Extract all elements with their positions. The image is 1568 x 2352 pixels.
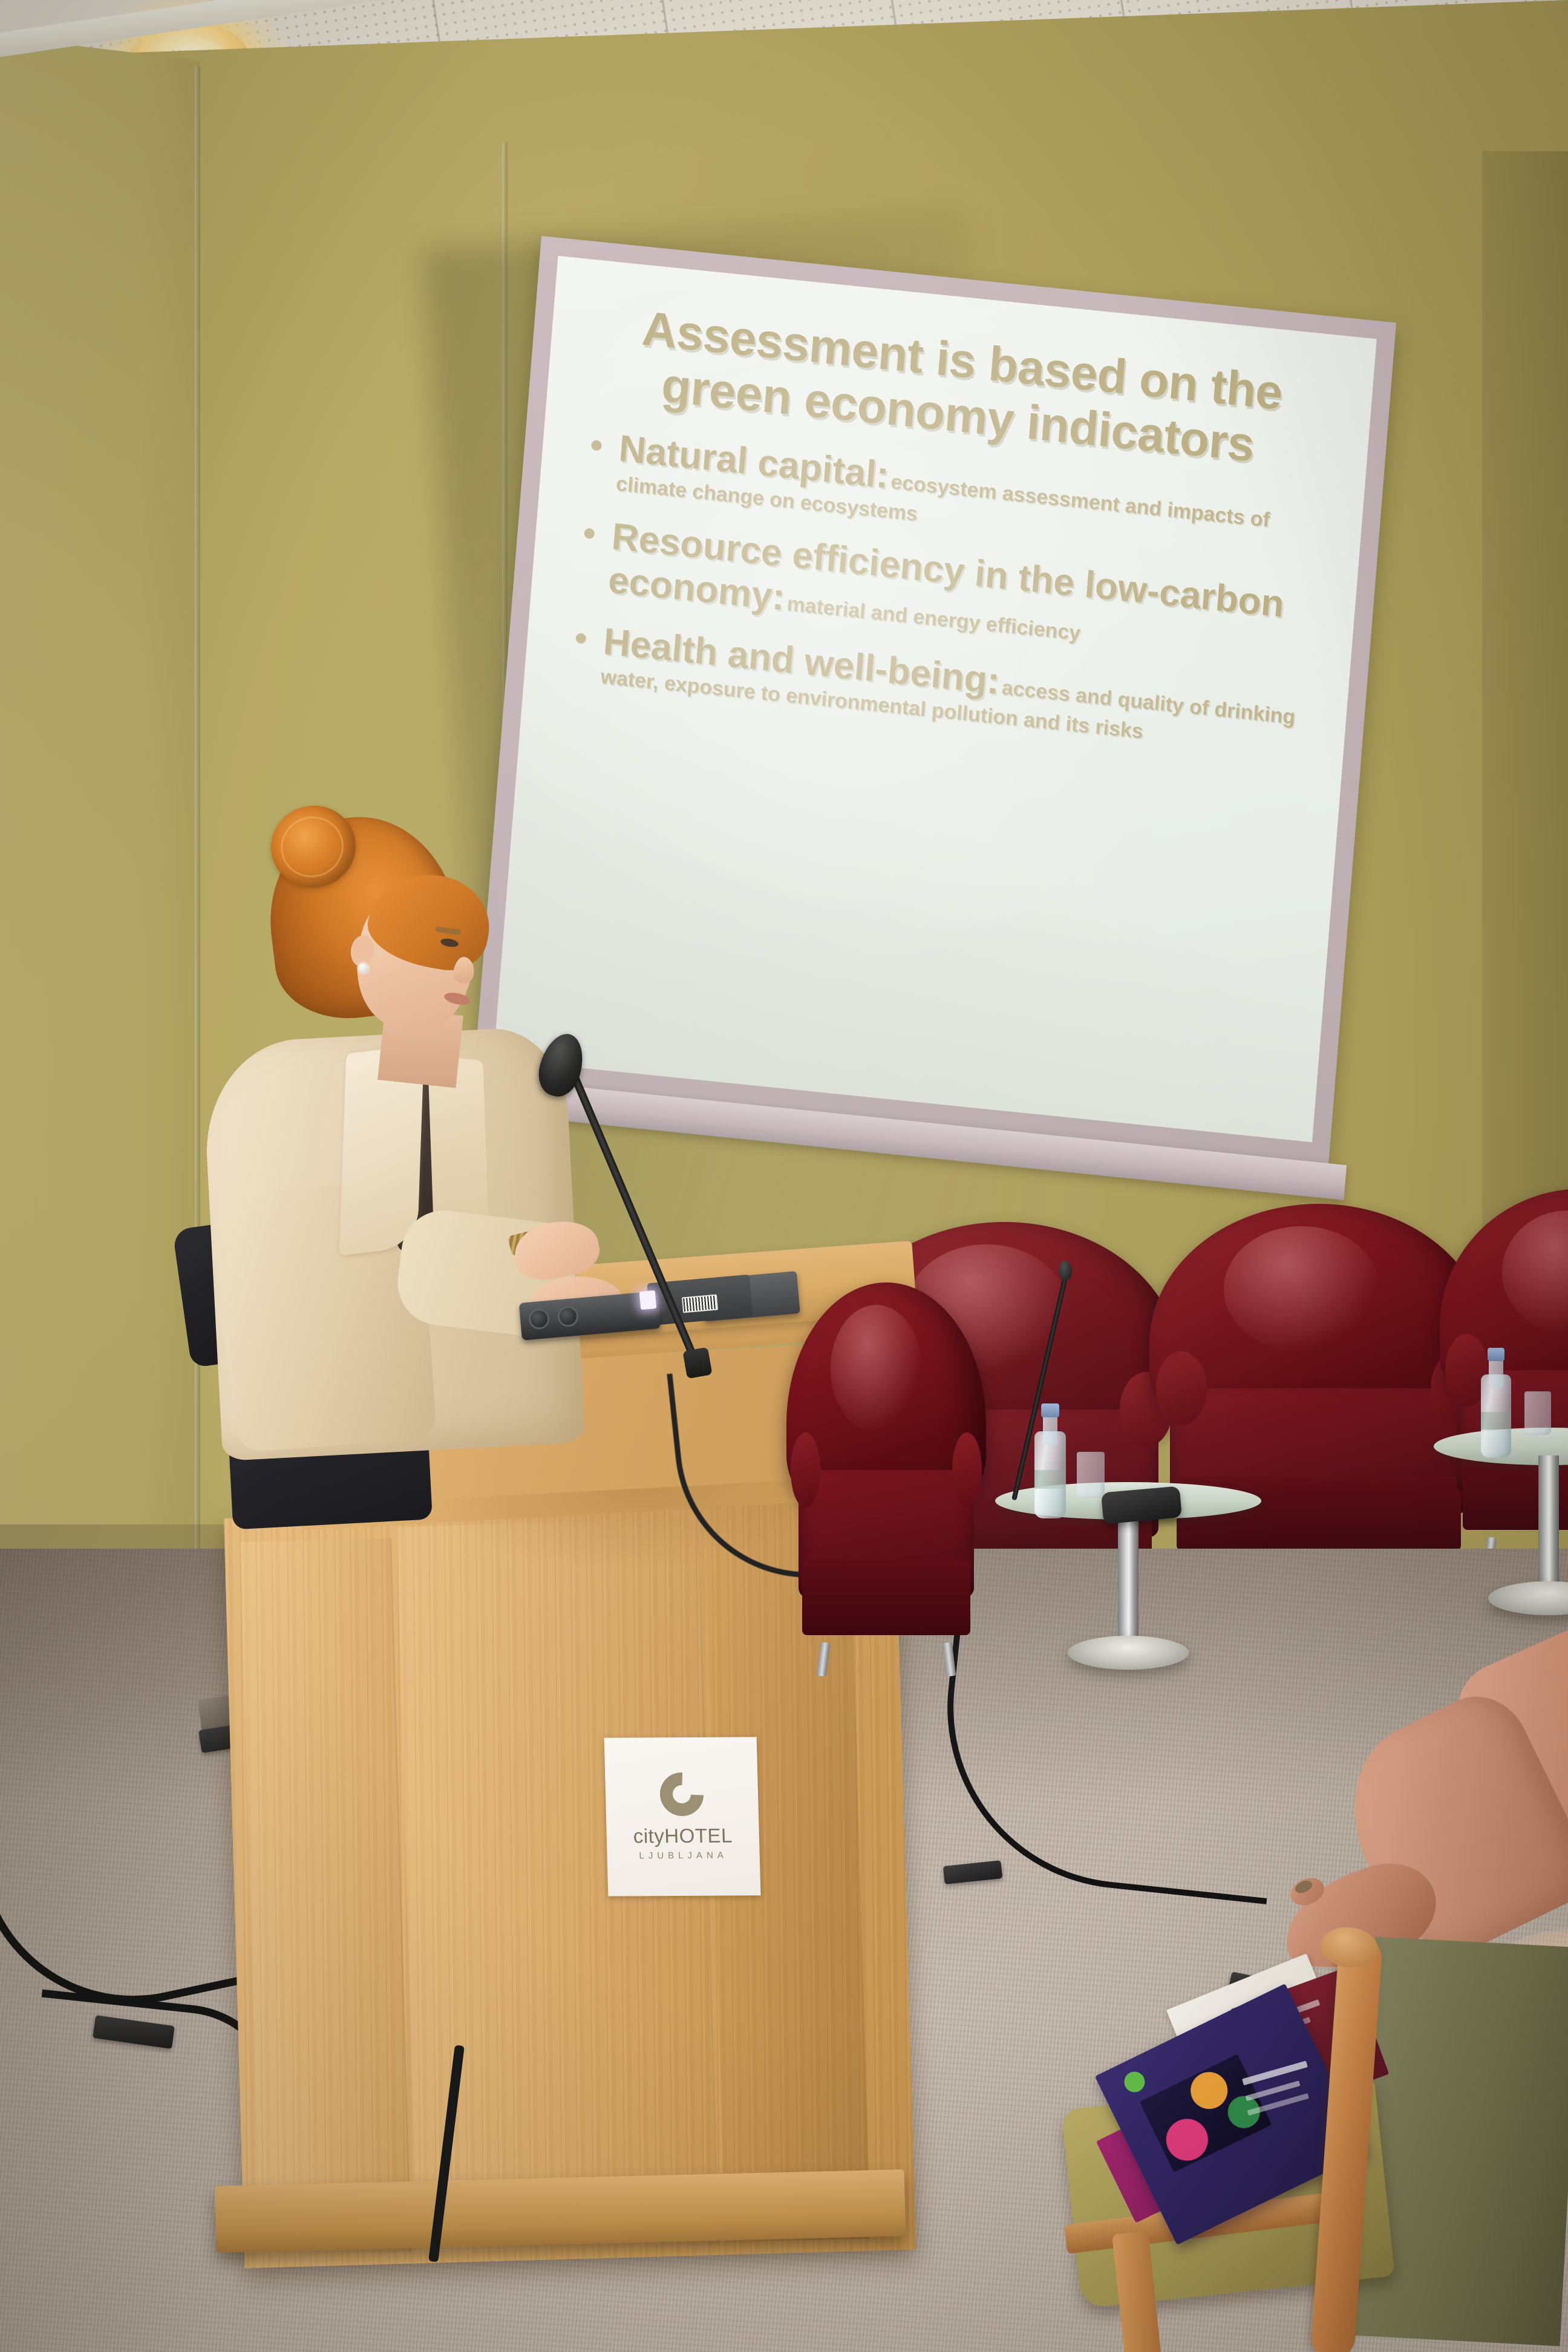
chair-back-panel [1354, 1937, 1568, 2347]
table-stem [1538, 1455, 1559, 1595]
book-badge-icon [1121, 2068, 1148, 2096]
microphone-base [682, 1347, 712, 1379]
table-base [1068, 1636, 1189, 1670]
left-wall-panel [0, 36, 200, 1634]
slide-bullet-list: Natural capital: ecosystem assessment an… [558, 423, 1328, 762]
drinking-glass [1077, 1452, 1105, 1498]
plaque-city-name: LJUBLJANA [639, 1851, 728, 1861]
hotel-logo-plaque: cityHOTEL LJUBLJANA [604, 1737, 761, 1896]
water-bottle [1034, 1403, 1066, 1518]
microphone-gooseneck [566, 1063, 696, 1356]
lectern-panel-left [240, 1538, 411, 2256]
conference-room-photo: Assessment is based on the green economy… [0, 0, 1568, 2352]
bullet-1-detail: ecosystem assessment and impacts of clim… [615, 470, 1270, 531]
table-stem [1118, 1510, 1138, 1649]
crescent-c-logo-icon [651, 1763, 713, 1825]
water-bottle [1481, 1348, 1511, 1458]
armchair [786, 1282, 986, 1658]
earring-icon [358, 963, 368, 973]
drinking-glass [1524, 1391, 1551, 1435]
plaque-brand-hotel: HOTEL [664, 1824, 733, 1847]
microphone-capsule-icon [1059, 1261, 1072, 1281]
bullet-dot-icon [591, 440, 602, 451]
plaque-brand-city: city [633, 1824, 664, 1847]
bullet-dot-icon [575, 633, 586, 644]
lectern-microphone [532, 1028, 750, 1367]
plaque-brand-name: cityHOTEL [633, 1826, 733, 1846]
wooden-chair [1143, 1948, 1567, 2352]
bullet-dot-icon [584, 528, 595, 539]
